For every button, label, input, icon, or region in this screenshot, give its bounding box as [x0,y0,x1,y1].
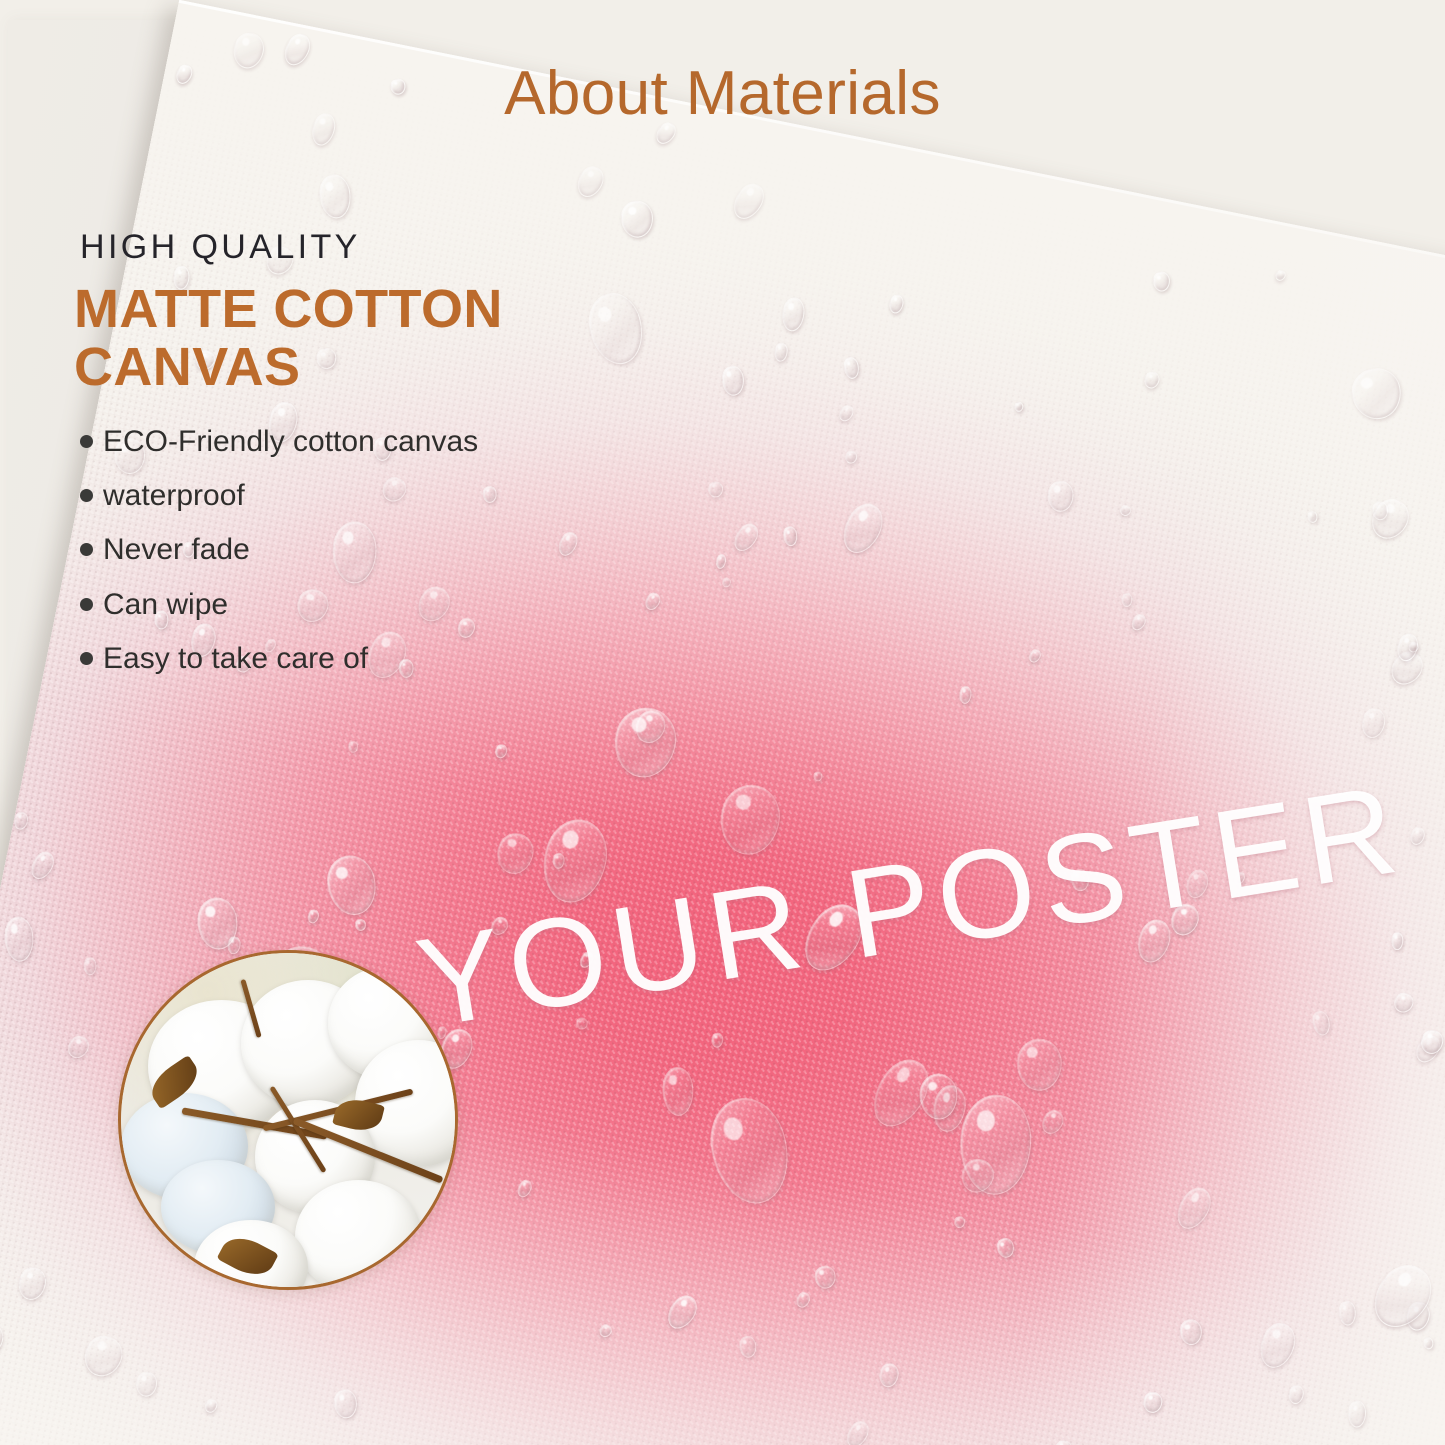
water-droplet-icon [578,949,596,969]
water-droplet-icon [774,342,789,362]
water-droplet-icon [1178,1318,1203,1346]
page-title: About Materials [0,58,1445,129]
water-droplet-icon [836,497,890,559]
water-droplet-icon [661,1067,694,1117]
water-droplet-icon [836,402,856,424]
water-droplet-icon [487,914,511,939]
feature-bullet-item: waterproof [74,477,594,515]
water-droplet-icon [1119,503,1133,517]
water-droplet-icon [202,1397,218,1415]
water-droplet-icon [708,481,723,497]
feature-bullet-label: waterproof [103,477,245,515]
water-droplet-icon [1014,401,1024,412]
water-droplet-icon [995,1236,1016,1259]
bullet-dot-icon [80,489,93,502]
feature-bullet-label: ECO-Friendly cotton canvas [103,423,478,461]
water-droplet-icon [1183,867,1212,901]
water-droplet-icon [954,1216,965,1229]
water-droplet-icon [959,685,973,704]
water-droplet-icon [711,1032,725,1048]
water-droplet-icon [1438,470,1445,554]
water-droplet-icon [844,450,858,465]
water-droplet-icon [1274,268,1288,282]
water-droplet-icon [135,1370,158,1397]
water-droplet-icon [781,296,807,332]
water-droplet-icon [1054,1440,1072,1445]
water-droplet-icon [701,1090,798,1211]
water-droplet-icon [1359,706,1387,739]
bullet-dot-icon [80,435,93,448]
feature-bullet-list: ECO-Friendly cotton canvaswaterproofNeve… [74,423,594,679]
water-droplet-icon [728,178,770,224]
water-droplet-icon [1363,1255,1442,1338]
water-droplet-icon [1348,1400,1367,1427]
water-droplet-icon [79,1330,128,1382]
water-droplet-icon [1287,1384,1305,1405]
water-droplet-icon [1338,1300,1357,1326]
water-droplet-icon [1038,1106,1068,1137]
feature-bullet-item: ECO-Friendly cotton canvas [74,423,594,461]
water-droplet-icon [1027,648,1043,665]
water-droplet-icon [0,1317,6,1360]
water-droplet-icon [494,743,509,759]
water-droplet-icon [16,1265,49,1302]
water-droplet-icon [794,1290,812,1310]
water-droplet-icon [572,162,608,201]
water-droplet-icon [64,1032,93,1062]
water-droplet-icon [322,851,381,919]
water-droplet-icon [597,1322,614,1340]
water-droplet-icon [729,520,762,556]
water-droplet-icon [609,703,681,782]
water-droplet-icon [1232,870,1246,886]
water-droplet-icon [1142,1391,1163,1414]
water-droplet-icon [738,1335,758,1359]
water-droplet-icon [227,935,243,954]
headline-label: MATTE COTTON CANVAS [74,281,564,397]
feature-bullet-item: Easy to take care of [74,640,594,678]
water-droplet-icon [1121,593,1132,607]
water-droplet-icon [620,199,655,238]
water-droplet-icon [333,1388,359,1420]
water-droplet-icon [354,918,367,932]
water-droplet-icon [306,909,320,926]
water-droplet-icon [536,814,615,909]
water-droplet-icon [1017,1038,1062,1090]
water-droplet-icon [1255,1318,1301,1372]
water-droplet-icon [1391,932,1404,950]
bullet-dot-icon [80,598,93,611]
water-droplet-icon [1070,868,1090,892]
water-droplet-icon [1306,510,1318,523]
feature-bullet-label: Can wipe [103,586,228,624]
water-droplet-icon [1166,900,1202,939]
eyebrow-label: HIGH QUALITY [80,228,594,267]
water-droplet-icon [515,1178,534,1199]
water-droplet-icon [1365,492,1416,545]
water-droplet-icon [1132,916,1175,967]
water-droplet-icon [1153,271,1171,292]
water-droplet-icon [1391,989,1417,1015]
water-droplet-icon [1171,1182,1217,1234]
feature-bullet-item: Can wipe [74,586,594,624]
water-droplet-icon [721,577,731,588]
water-droplet-icon [720,365,744,396]
water-droplet-icon [782,525,798,547]
water-droplet-icon [1142,369,1161,390]
water-droplet-icon [1422,1336,1435,1350]
water-droplet-icon [83,957,96,976]
water-droplet-icon [1047,481,1073,512]
water-droplet-icon [716,780,784,857]
feature-bullet-label: Never fade [103,531,250,569]
cotton-photo-art [121,953,455,1287]
water-droplet-icon [813,771,823,782]
water-droplet-icon [27,848,58,883]
water-droplet-icon [13,811,30,831]
water-droplet-icon [1348,364,1405,423]
copy-block: HIGH QUALITY MATTE COTTON CANVAS ECO-Fri… [74,228,594,694]
cotton-photo-swatch [118,950,458,1290]
water-droplet-icon [1407,826,1426,848]
water-droplet-icon [878,1362,900,1388]
water-droplet-icon [317,173,352,220]
infographic-canvas: YOUR POSTER About Materials HIGH QUALITY… [0,0,1445,1445]
water-droplet-icon [813,1264,836,1289]
water-droplet-icon [348,741,358,753]
water-droplet-icon [642,590,662,612]
water-droplet-icon [715,553,728,569]
water-droplet-icon [662,1290,702,1334]
bullet-dot-icon [80,652,93,665]
feature-bullet-item: Never fade [74,531,594,569]
water-droplet-icon [793,894,873,981]
water-droplet-icon [1310,1009,1332,1037]
water-droplet-icon [493,830,537,878]
water-droplet-icon [842,1418,872,1445]
water-droplet-icon [842,356,860,380]
cotton-boll-icon [295,1180,422,1287]
bullet-dot-icon [80,543,93,556]
feature-bullet-label: Easy to take care of [103,640,368,678]
water-droplet-icon [1129,612,1149,633]
water-droplet-icon [887,293,905,315]
water-droplet-icon [576,1017,588,1030]
water-droplet-icon [3,916,35,962]
